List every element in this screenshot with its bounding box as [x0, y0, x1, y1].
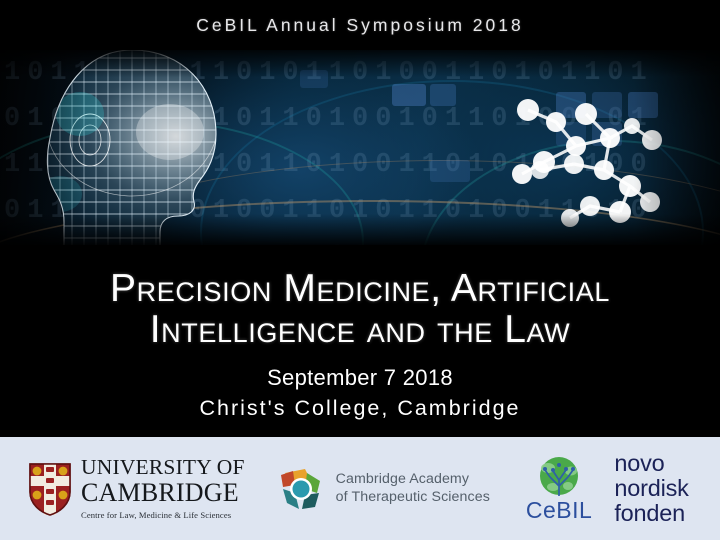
title-block: Precision Medicine, Artificial Intellige…: [0, 245, 720, 437]
event-name: CeBIL Annual Symposium 2018: [196, 15, 523, 36]
sponsor-logo-bar: UNIVERSITY OF CAMBRIDGE Centre for Law, …: [0, 437, 720, 540]
cambridge-line-2: CAMBRIDGE: [81, 480, 245, 506]
slide-title-line-1: Precision Medicine, Artificial: [0, 268, 720, 309]
presentation-slide: CeBIL Annual Symposium 2018 101101001101…: [0, 0, 720, 540]
logo-university-of-cambridge: UNIVERSITY OF CAMBRIDGE Centre for Law, …: [28, 457, 245, 519]
hero-image: 1011010011010110100110101101 01011010010…: [0, 50, 720, 245]
logo-cambridge-academy-therapeutic-sciences: Cambridge Academy of Therapeutic Science…: [275, 463, 490, 515]
cambridge-line-1: UNIVERSITY OF: [81, 457, 245, 479]
logo-novo-nordisk-fonden: novo nordisk fonden: [614, 451, 688, 526]
slide-title: Precision Medicine, Artificial Intellige…: [0, 245, 720, 350]
hero-vignette: [0, 50, 720, 245]
nnf-line-2: nordisk: [614, 476, 688, 501]
cats-line-2: of Therapeutic Sciences: [336, 489, 490, 507]
cats-wordmark: Cambridge Academy of Therapeutic Science…: [336, 471, 490, 506]
cats-hexagon-icon: [275, 463, 327, 515]
cambridge-centre-subtitle: Centre for Law, Medicine & Life Sciences: [81, 511, 245, 520]
slide-title-line-2: Intelligence and the Law: [0, 309, 720, 350]
slide-header: CeBIL Annual Symposium 2018: [0, 0, 720, 50]
nnf-line-1: novo: [614, 451, 688, 476]
logo-cebil: CeBIL: [526, 456, 592, 522]
nnf-line-3: fonden: [614, 501, 688, 526]
event-date: September 7 2018: [0, 365, 720, 391]
event-venue: Christ's College, Cambridge: [0, 396, 720, 421]
cambridge-crest-icon: [28, 462, 72, 516]
cambridge-wordmark: UNIVERSITY OF CAMBRIDGE Centre for Law, …: [81, 457, 245, 519]
cats-line-1: Cambridge Academy: [336, 471, 490, 489]
cebil-tree-globe-icon: [528, 456, 590, 502]
cebil-wordmark: CeBIL: [526, 499, 592, 522]
